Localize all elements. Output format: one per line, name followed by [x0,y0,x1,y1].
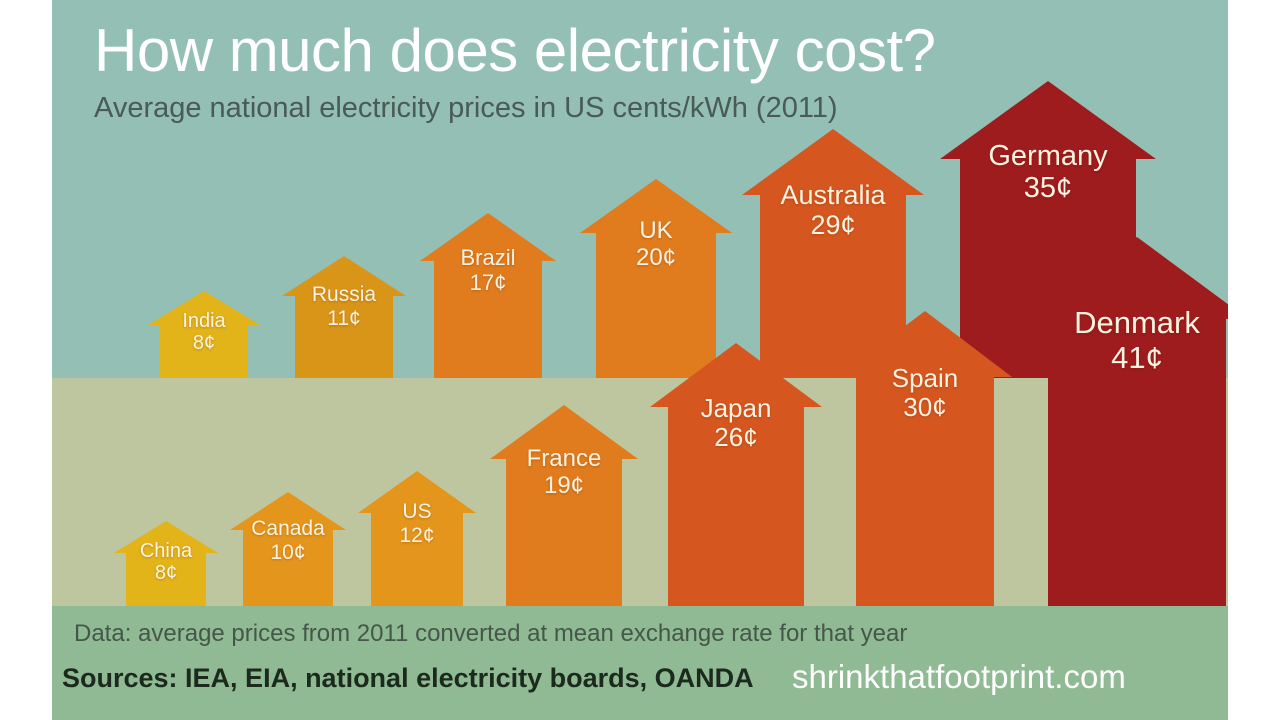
house-china[interactable]: China8¢ [114,518,218,606]
house-roof-icon [838,308,1012,377]
house-body [506,456,622,606]
footer-data-note: Data: average prices from 2011 converted… [74,620,907,648]
infographic-canvas: How much does electricity cost? Average … [52,0,1228,720]
house-roof-icon [230,489,346,530]
house-spain[interactable]: Spain30¢ [838,308,1012,606]
house-france[interactable]: France19¢ [490,402,638,606]
house-japan[interactable]: Japan26¢ [650,340,822,606]
house-body [243,527,333,606]
footer: Data: average prices from 2011 converted… [52,606,1228,720]
house-roof-icon [650,340,822,407]
house-roof-icon [1026,234,1228,319]
footer-sources: Sources: IEA, EIA, national electricity … [62,663,754,694]
house-roof-icon [358,468,476,513]
footer-website: shrinkthatfootprint.com [792,658,1126,696]
house-roof-icon [114,518,218,553]
house-body [856,374,994,606]
house-row-2: China8¢Canada10¢US12¢France19¢Japan26¢Sp… [52,0,1228,606]
house-body [1048,316,1226,606]
house-denmark[interactable]: Denmark41¢ [1026,234,1228,606]
house-body [126,550,206,606]
house-body [668,404,804,606]
house-roof-icon [490,402,638,459]
house-body [371,510,463,606]
house-canada[interactable]: Canada10¢ [230,489,346,606]
house-us[interactable]: US12¢ [358,468,476,606]
